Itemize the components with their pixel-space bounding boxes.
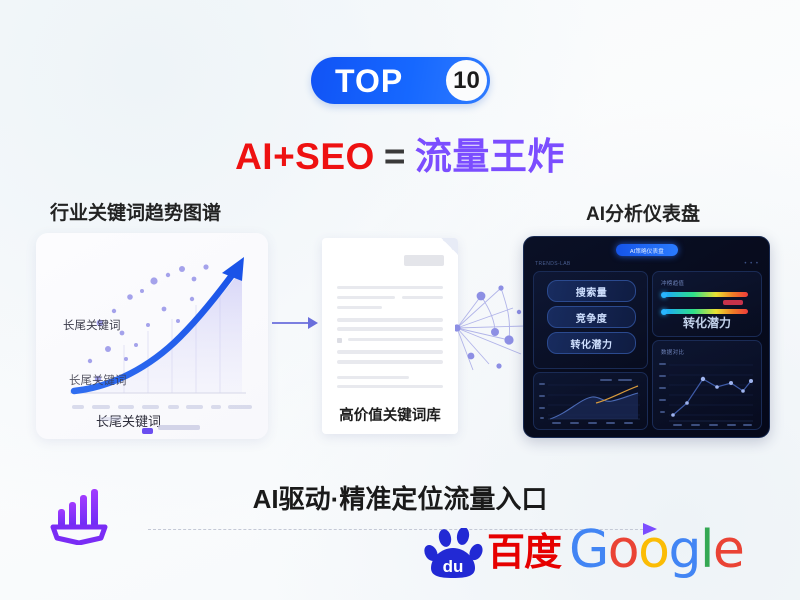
gauge-knob-primary[interactable]	[661, 292, 667, 298]
dashboard-metrics-panel: 搜索量 竞争度 转化潜力	[533, 271, 648, 369]
ai-analysis-dashboard: AI策略仪表盘 TRENDS-LAB • • • 搜索量 竞争度 转化潜力	[523, 236, 770, 438]
top-rank-badge: TOP 10	[311, 57, 490, 104]
top-badge-label: TOP	[335, 65, 403, 97]
headline-ai-seo: AI+SEO	[235, 136, 375, 177]
flow-arrow-icon	[272, 316, 318, 330]
chart-legend-swatch	[142, 428, 153, 434]
doc-line	[348, 338, 443, 341]
google-letter-g2: g	[668, 520, 700, 580]
doc-line	[337, 360, 443, 364]
baidu-logo-text: 百度	[487, 534, 561, 572]
doc-line	[402, 296, 443, 299]
gauge-bar-primary	[664, 292, 748, 297]
chart-xtick-7	[211, 405, 221, 409]
bar-chart-icon	[48, 483, 110, 545]
doc-header-chip	[404, 255, 444, 266]
metric-pill-label: 搜索量	[576, 284, 608, 299]
gauge-overlay-label: 转化潜力	[653, 314, 761, 331]
gauge-alert-chip	[723, 300, 743, 305]
metric-pill-label: 竞争度	[576, 310, 608, 325]
google-letter-o2: o	[638, 520, 668, 580]
google-letter-o1: o	[608, 520, 638, 580]
doc-line	[337, 327, 443, 331]
chart-axis-note	[100, 417, 122, 421]
chart-keyword-label-2: 长尾关键词	[69, 372, 127, 388]
dashboard-brand-label: TRENDS-LAB	[535, 261, 571, 267]
dashboard-title-pill: AI策略仪表盘	[616, 244, 678, 256]
chart-xtick-8	[228, 405, 252, 409]
gauge-panel-title: 冲榜趋值	[661, 279, 684, 287]
dashboard-gauge-panel: 冲榜趋值 转化潜力	[652, 271, 762, 337]
metric-pill-competition[interactable]: 竞争度	[547, 306, 636, 328]
dashboard-area-chart-panel	[533, 372, 648, 430]
google-logo: Google	[569, 524, 743, 576]
headline-equals: =	[384, 136, 406, 177]
keyword-trend-chart-card: 长尾关键词 长尾关键词 长尾关键词	[36, 233, 268, 439]
left-section-caption: 行业关键词趋势图谱	[50, 198, 221, 225]
doc-line	[337, 350, 443, 354]
dashboard-menu-icon[interactable]: • • •	[744, 261, 759, 267]
doc-bullet-marker	[337, 338, 342, 343]
node-network-graph	[455, 278, 530, 378]
google-letter-g1: G	[569, 520, 608, 580]
chart-xtick-6	[186, 405, 203, 409]
doc-line	[337, 318, 443, 322]
google-letter-l: l	[700, 520, 713, 580]
dashboard-trend-panel: 数据对比	[652, 340, 762, 430]
metric-pill-conversion[interactable]: 转化潜力	[547, 332, 636, 354]
headline-traffic: 流量王炸	[415, 136, 565, 177]
chart-xtick-1	[72, 405, 84, 409]
google-letter-e: e	[713, 520, 744, 580]
page-headline: AI+SEO=流量王炸	[0, 126, 800, 180]
chart-xtick-3	[118, 405, 134, 409]
metric-pill-label: 转化潜力	[571, 336, 613, 351]
top-badge-rank-number: 10	[453, 69, 480, 93]
dashboard-title: AI策略仪表盘	[630, 246, 664, 255]
metric-pill-search-volume[interactable]: 搜索量	[547, 280, 636, 302]
right-section-caption: AI分析仪表盘	[586, 199, 700, 226]
chart-keyword-label-1: 长尾关键词	[63, 317, 121, 333]
doc-line	[337, 385, 443, 388]
doc-line	[337, 286, 443, 289]
top-badge-rank-circle: 10	[446, 60, 487, 101]
document-caption: 高价值关键词库	[322, 404, 458, 425]
chart-legend-label	[158, 425, 200, 430]
dashboard-area-chart	[534, 373, 647, 429]
chart-xtick-2	[92, 405, 110, 409]
chart-xtick-4	[142, 405, 159, 409]
keyword-library-document-card: 高价值关键词库	[322, 238, 458, 434]
bottom-slogan: AI驱动·精准定位流量入口	[0, 479, 800, 516]
svg-text:du: du	[443, 557, 464, 576]
doc-line	[337, 296, 395, 299]
doc-line	[337, 306, 382, 309]
doc-line	[337, 376, 409, 379]
chart-xtick-5	[168, 405, 179, 409]
dashboard-trend-chart	[653, 341, 761, 429]
